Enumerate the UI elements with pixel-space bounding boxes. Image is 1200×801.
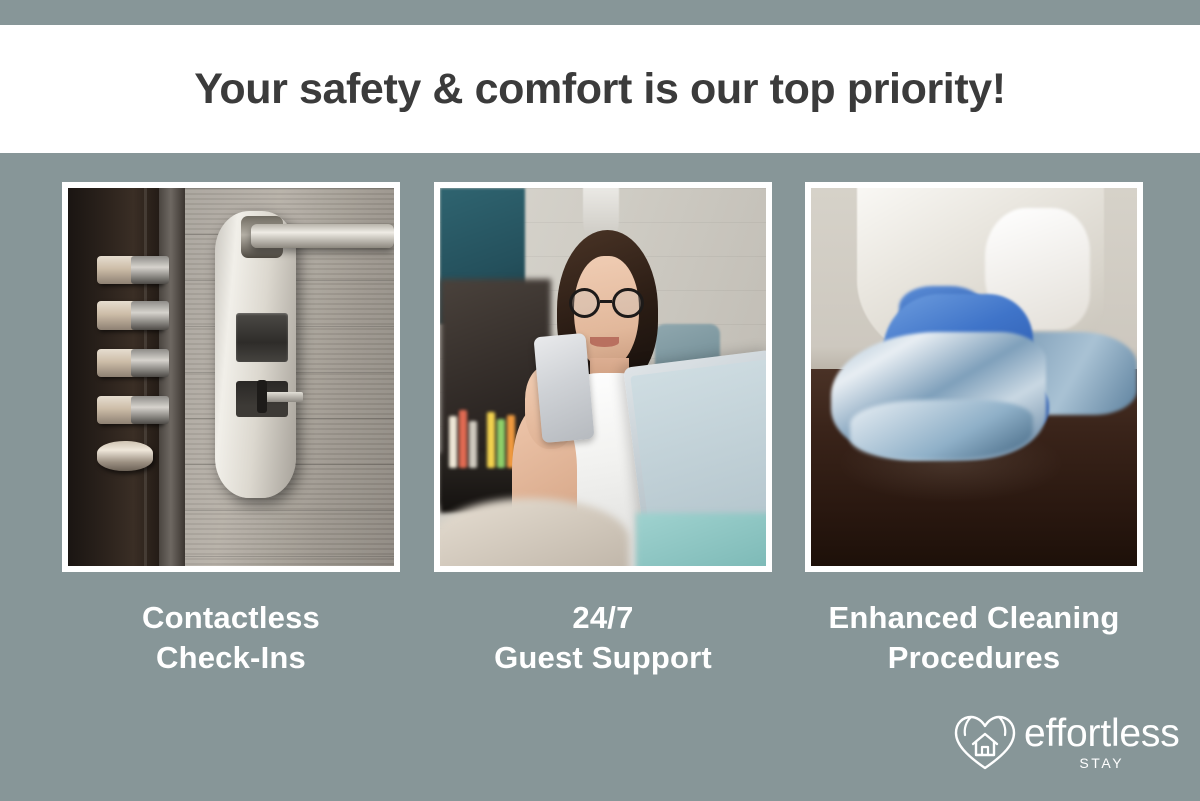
caption-line-1: Enhanced Cleaning [790,598,1158,638]
foreground-blur-right [636,513,766,566]
feature-caption: 24/7 Guest Support [434,598,772,678]
lock-brand-badge [236,313,288,362]
deadbolt-pin-icon [97,256,162,284]
key-icon [264,392,303,402]
microfiber-cloth-fold [850,400,1033,460]
heart-house-icon [952,711,1018,773]
guest-support-photo [440,188,766,566]
door-lock-photo [68,188,394,566]
door-edge [159,188,185,566]
feature-card[interactable] [62,182,400,572]
deadbolt-pin-icon [97,301,162,329]
feature-card[interactable] [805,182,1143,572]
feature-caption: Enhanced Cleaning Procedures [790,598,1158,678]
deadbolt-pin-icon [97,349,162,377]
caption-line-2: Procedures [790,638,1158,678]
feature-caption: Contactless Check-Ins [62,598,400,678]
door-face [68,188,159,566]
caption-line-2: Check-Ins [62,638,400,678]
smile [590,337,619,346]
smartphone-icon [533,333,594,443]
deadbolt-pin-icon [97,396,162,424]
door-lever-handle-icon [251,224,394,249]
thumb-turn-knob-icon [97,441,152,471]
caption-line-1: Contactless [62,598,400,638]
caption-line-1: 24/7 [434,598,772,638]
page-title: Your safety & comfort is our top priorit… [194,68,1005,111]
logo-tagline: STAY [1079,755,1124,771]
feature-card[interactable] [434,182,772,572]
eyeglasses-icon [569,288,644,318]
pens-group [447,407,519,467]
feature-card-row [0,182,1200,572]
top-accent-band [0,0,1200,25]
headline-band: Your safety & comfort is our top priorit… [0,25,1200,153]
brand-logo[interactable]: effortless STAY [952,706,1162,778]
caption-line-2: Guest Support [434,638,772,678]
logo-wordmark: effortless STAY [1024,714,1180,771]
cleaning-photo [811,188,1137,566]
logo-name: effortless [1024,714,1180,754]
